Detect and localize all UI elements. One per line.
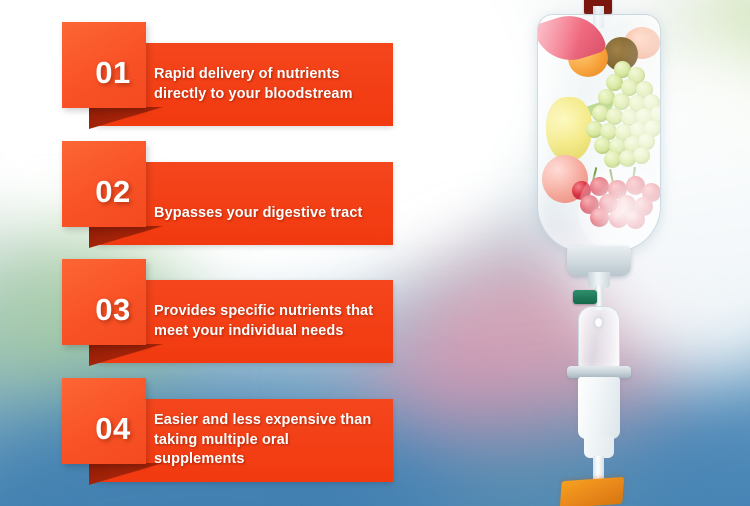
iv-bag-body — [537, 14, 661, 252]
iv-drip-chamber — [578, 306, 620, 370]
benefit-card-3[interactable]: Provides specific nutrients that meet yo… — [0, 259, 400, 379]
iv-filter-base — [584, 436, 614, 458]
benefit-card-list: Rapid delivery of nutrients directly to … — [0, 0, 430, 506]
benefit-number-3: 03 — [77, 276, 130, 328]
benefit-number-2: 02 — [77, 158, 130, 210]
benefit-number-4: 04 — [77, 395, 130, 447]
iv-bag-illustration — [505, 0, 750, 506]
frost-overlay-lower — [578, 165, 661, 252]
benefit-number-box-1: 01 — [62, 22, 146, 108]
benefit-card-1[interactable]: Rapid delivery of nutrients directly to … — [0, 22, 400, 142]
infographic-root: Rapid delivery of nutrients directly to … — [0, 0, 750, 506]
benefit-card-2[interactable]: Bypasses your digestive tract 02 — [0, 141, 400, 261]
iv-amber-connector — [560, 477, 624, 506]
benefit-number-1: 01 — [77, 39, 130, 91]
benefit-number-box-3: 03 — [62, 259, 146, 345]
iv-roller-clip-icon — [573, 290, 597, 304]
benefit-card-4[interactable]: Easier and less expensive than taking mu… — [0, 378, 400, 498]
iv-filter-body — [578, 377, 620, 439]
benefit-number-box-4: 04 — [62, 378, 146, 464]
benefit-number-box-2: 02 — [62, 141, 146, 227]
iv-droplet-icon — [595, 318, 602, 327]
